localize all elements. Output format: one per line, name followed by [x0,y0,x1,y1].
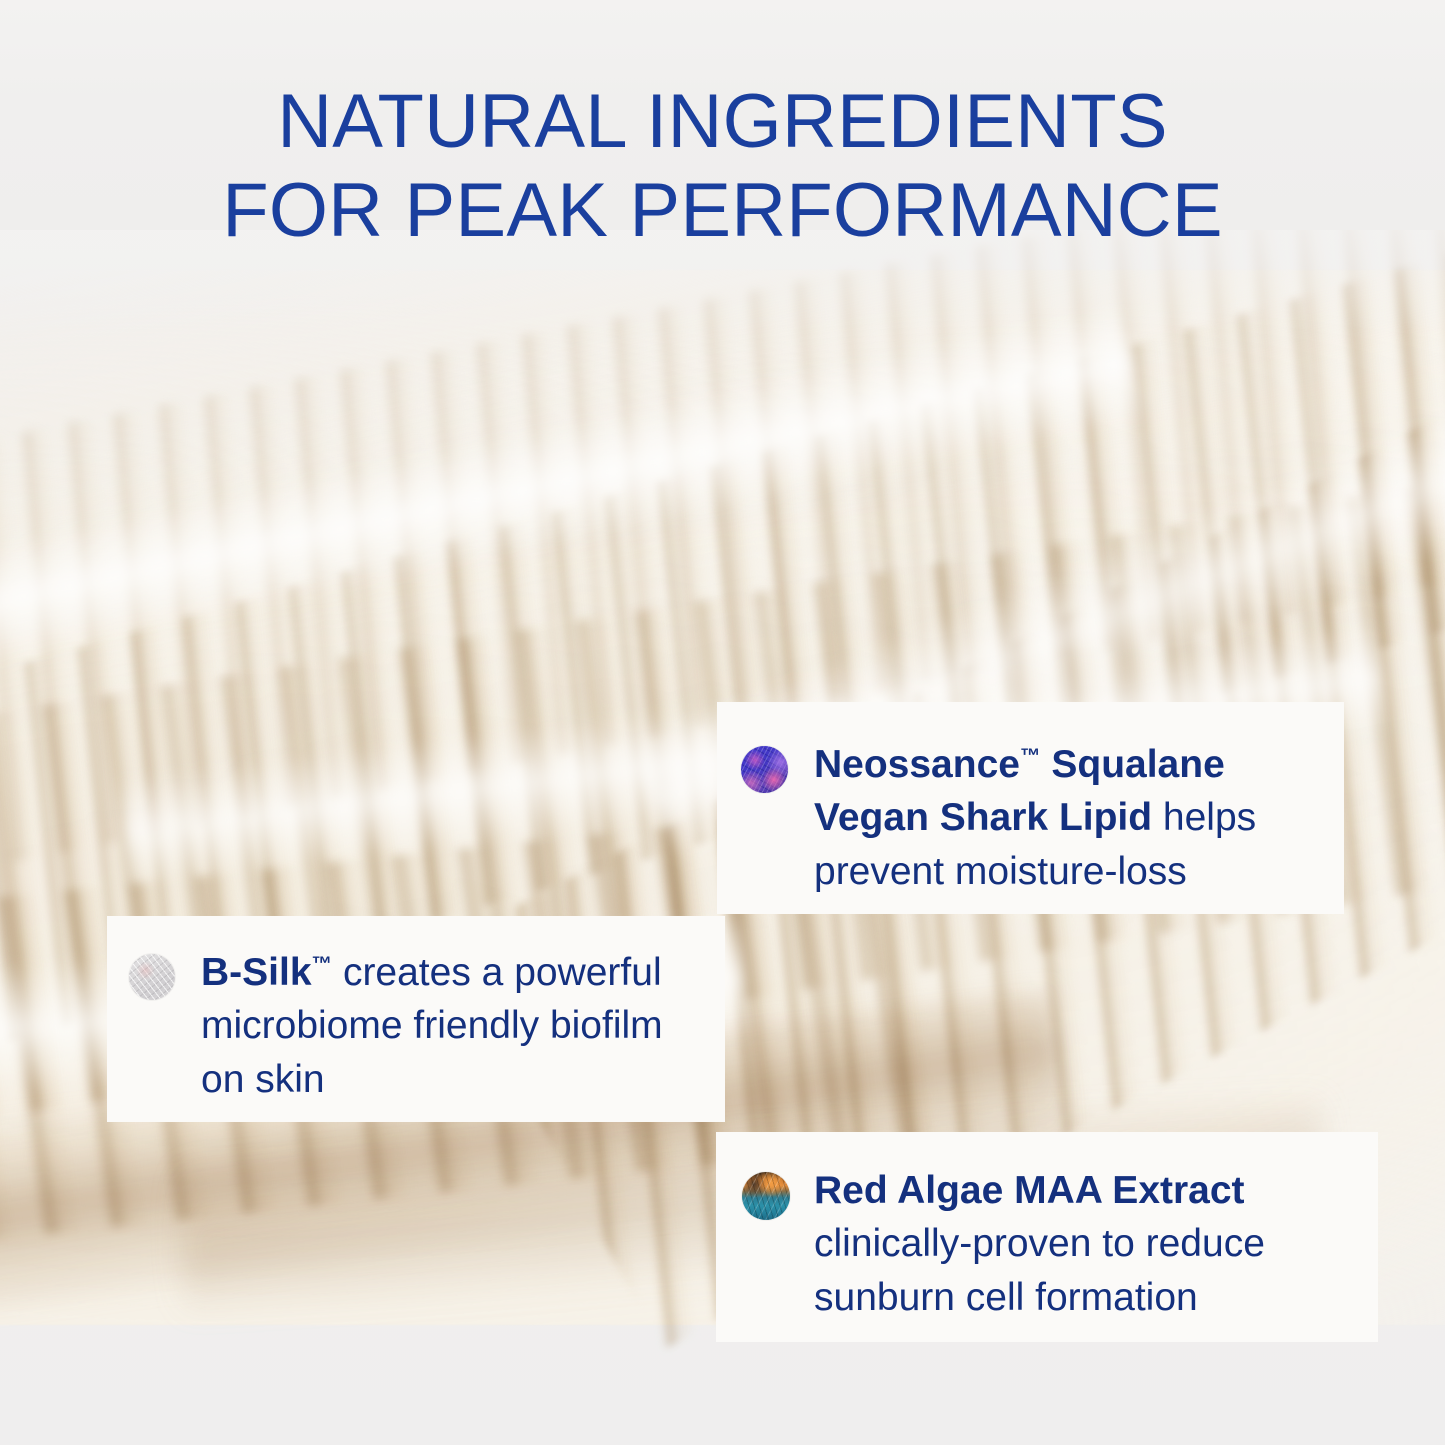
page-title: NATURAL INGREDIENTS FOR PEAK PERFORMANCE [0,78,1445,256]
trademark-symbol-bsilk: ™ [312,953,333,975]
product-ingredient-infographic: NATURAL INGREDIENTS FOR PEAK PERFORMANCE… [0,0,1445,1445]
trademark-symbol-neossance: ™ [1020,745,1041,767]
red-algae-reef-icon [742,1172,790,1220]
callout-regular-redalgae: clinically-proven to reduce sunburn cell… [814,1222,1265,1318]
callout-text-neossance: Neossance™ Squalane Vegan Shark Lipid he… [814,738,1314,898]
squalane-molecule-icon [741,746,788,793]
callout-bold-bsilk: B-Silk [201,951,312,994]
callout-text-redalgae: Red Algae MAA Extract clinically-proven … [814,1164,1352,1324]
callout-bold-neossance: Neossance [814,743,1020,786]
callout-bold-redalgae: Red Algae MAA Extract [814,1169,1245,1212]
callout-card-redalgae: Red Algae MAA Extract clinically-proven … [716,1132,1378,1342]
callout-card-bsilk: B-Silk™ creates a powerful microbiome fr… [107,916,725,1122]
callout-card-neossance: Neossance™ Squalane Vegan Shark Lipid he… [717,702,1344,914]
callout-text-bsilk: B-Silk™ creates a powerful microbiome fr… [201,946,699,1106]
silk-fiber-icon [129,954,175,1000]
